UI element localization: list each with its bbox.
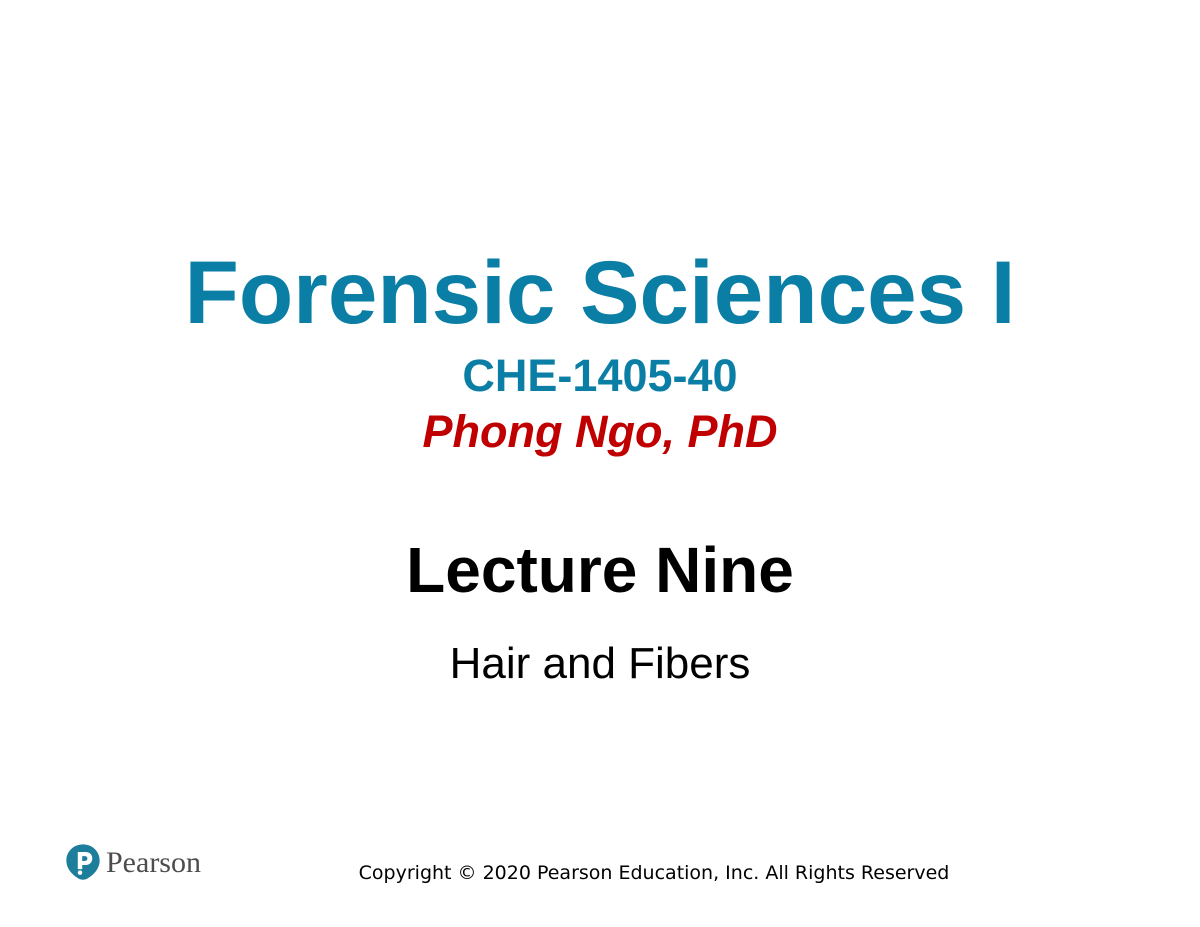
lecture-number-heading: Lecture Nine — [0, 538, 1200, 602]
lecture-topic: Hair and Fibers — [0, 642, 1200, 686]
presentation-slide: Forensic Sciences I CHE-1405-40 Phong Ng… — [0, 0, 1200, 927]
copyright-notice: Copyright © 2020 Pearson Education, Inc.… — [0, 862, 1200, 884]
course-title: Forensic Sciences I — [0, 248, 1200, 337]
lecture-block: Lecture Nine Hair and Fibers — [0, 538, 1200, 686]
course-code: CHE-1405-40 — [0, 351, 1200, 401]
instructor-name: Phong Ngo, PhD — [0, 407, 1200, 457]
title-block: Forensic Sciences I CHE-1405-40 Phong Ng… — [0, 248, 1200, 458]
